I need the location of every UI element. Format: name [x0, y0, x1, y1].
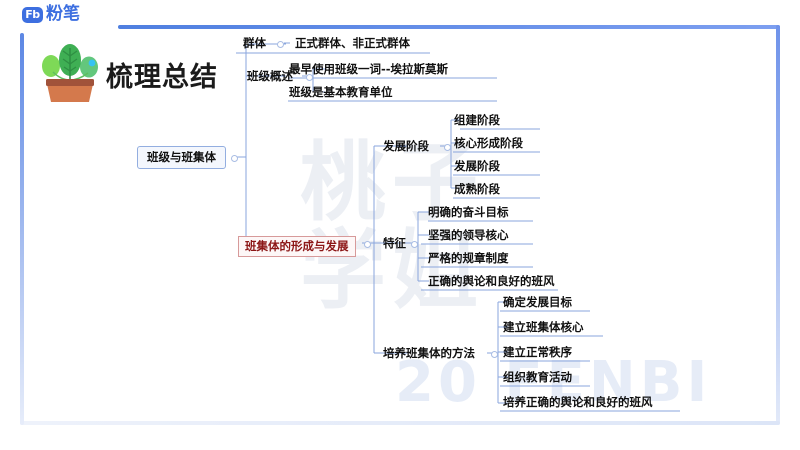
group-connector-dot: [277, 41, 284, 48]
collective-connector-dot: [364, 241, 371, 248]
slide-canvas: 桃子 学姐 20 FENBI Fb 粉笔 梳理总结: [0, 0, 800, 450]
development-stages-connector-dot: [444, 144, 451, 151]
node-group-types[interactable]: 正式群体、非正式群体: [292, 35, 413, 52]
node-stage-mature[interactable]: 成熟阶段: [451, 181, 503, 198]
node-stage-core-forming[interactable]: 核心形成阶段: [451, 135, 526, 152]
node-char-strong-leadership[interactable]: 坚强的领导核心: [425, 227, 512, 244]
node-class-collective-formation[interactable]: 班集体的形成与发展: [238, 236, 356, 257]
node-development-stages[interactable]: 发展阶段: [380, 138, 432, 155]
node-char-correct-opinion[interactable]: 正确的舆论和良好的班风: [425, 273, 558, 290]
mindmap-root-node[interactable]: 班级与班集体: [137, 146, 226, 169]
node-stage-formation[interactable]: 组建阶段: [451, 112, 503, 129]
node-method-build-core[interactable]: 建立班集体核心: [500, 319, 587, 336]
node-group[interactable]: 群体: [240, 35, 269, 52]
root-connector-dot: [231, 155, 238, 162]
node-basic-education-unit[interactable]: 班级是基本教育单位: [286, 84, 396, 101]
node-stage-development[interactable]: 发展阶段: [451, 158, 503, 175]
node-method-cultivate-opinion[interactable]: 培养正确的舆论和良好的班风: [500, 394, 656, 411]
characteristics-connector-dot: [411, 241, 418, 248]
node-char-strict-rules[interactable]: 严格的规章制度: [425, 250, 512, 267]
node-characteristics[interactable]: 特征: [380, 235, 409, 252]
node-erasmus[interactable]: 最早使用班级一词--埃拉斯莫斯: [286, 61, 451, 78]
node-method-organize-activities[interactable]: 组织教育活动: [500, 369, 575, 386]
node-cultivation-methods[interactable]: 培养班集体的方法: [380, 345, 478, 362]
cultivation-methods-connector-dot: [491, 351, 498, 358]
mindmap: 班级与班集体 群体 正式群体、非正式群体 班级概述 最早使用班级一词--埃拉斯莫…: [0, 0, 800, 450]
node-method-normal-order[interactable]: 建立正常秩序: [500, 344, 575, 361]
node-method-set-goal[interactable]: 确定发展目标: [500, 294, 575, 311]
node-char-clear-goal[interactable]: 明确的奋斗目标: [425, 204, 512, 221]
